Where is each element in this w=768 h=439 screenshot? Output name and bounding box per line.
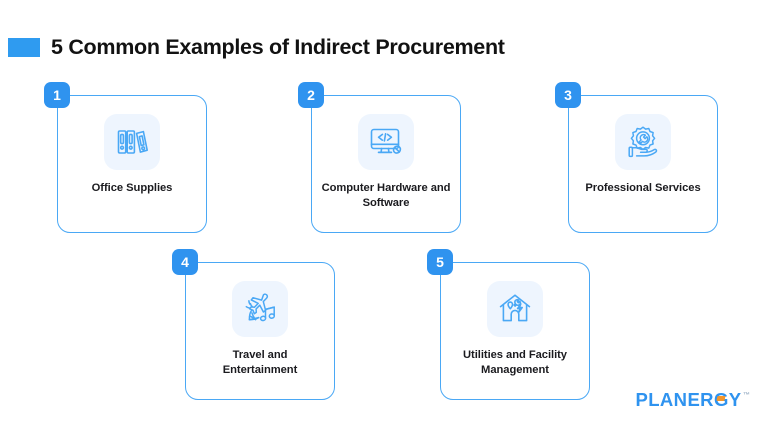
- logo-text-part-1: PLANER: [635, 391, 713, 410]
- card-number-badge: 5: [427, 249, 453, 275]
- card-content: Professional Services: [568, 95, 718, 233]
- card-content: Computer Hardware and Software: [311, 95, 461, 233]
- card-label: Utilities and Facility Management: [449, 348, 581, 379]
- card-content: Utilities and Facility Management: [440, 262, 590, 400]
- card-number-badge: 2: [298, 82, 324, 108]
- logo-text-part-2: Y: [729, 391, 742, 410]
- trademark-symbol: ™: [743, 392, 750, 399]
- card-utilities-and-facility-management[interactable]: Utilities and Facility Management 5: [440, 262, 590, 400]
- page-title: 5 Common Examples of Indirect Procuremen…: [51, 35, 505, 60]
- card-label: Computer Hardware and Software: [320, 181, 452, 212]
- card-label: Professional Services: [577, 181, 709, 196]
- planergy-logo: PLANER G Y ™: [635, 391, 750, 410]
- monitor-code-mouse-icon: [358, 114, 414, 170]
- card-travel-and-entertainment[interactable]: Travel and Entertainment 4: [185, 262, 335, 400]
- binders-icon: [104, 114, 160, 170]
- card-content: Travel and Entertainment: [185, 262, 335, 400]
- card-content: Office Supplies: [57, 95, 207, 233]
- card-professional-services[interactable]: Professional Services 3: [568, 95, 718, 233]
- card-number-badge: 1: [44, 82, 70, 108]
- card-office-supplies[interactable]: Office Supplies 1: [57, 95, 207, 233]
- logo-letter-g: G: [714, 391, 729, 410]
- page-header: 5 Common Examples of Indirect Procuremen…: [0, 30, 768, 64]
- house-utilities-icon: [487, 281, 543, 337]
- airplane-fireworks-music-icon: [232, 281, 288, 337]
- card-number-badge: 3: [555, 82, 581, 108]
- card-label: Office Supplies: [66, 181, 198, 196]
- card-label: Travel and Entertainment: [194, 348, 326, 379]
- card-computer-hardware-and-software[interactable]: Computer Hardware and Software 2: [311, 95, 461, 233]
- header-accent-bar: [8, 38, 40, 57]
- card-number-badge: 4: [172, 249, 198, 275]
- logo-accent-stroke: [716, 396, 725, 401]
- hand-holding-gear-wrench-icon: [615, 114, 671, 170]
